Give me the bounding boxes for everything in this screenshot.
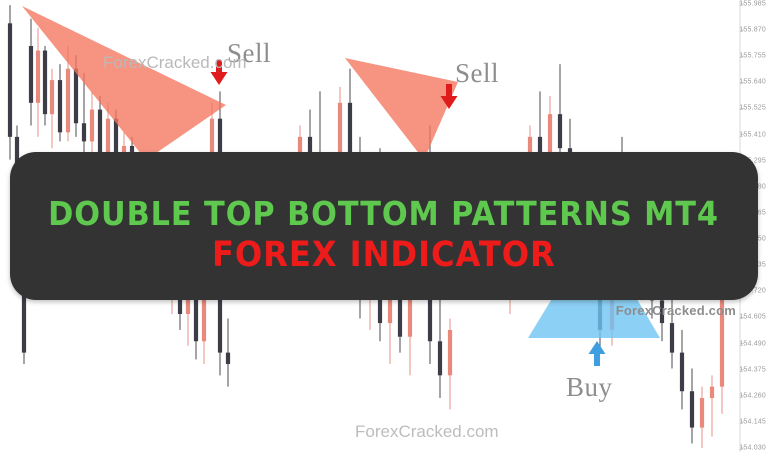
price-axis-label: 154.030 bbox=[739, 445, 766, 452]
candle bbox=[558, 114, 562, 148]
candle bbox=[66, 69, 70, 133]
candle bbox=[58, 80, 62, 132]
price-axis-label: 155.870 bbox=[739, 27, 766, 34]
banner-headline-primary: Double Top Bottom Patterns MT4 bbox=[49, 197, 720, 230]
price-axis-label: 155.755 bbox=[739, 53, 766, 60]
title-banner: Double Top Bottom Patterns MT4 Forex Ind… bbox=[10, 152, 758, 300]
price-axis-label: 155.640 bbox=[739, 79, 766, 86]
candle bbox=[50, 80, 54, 114]
price-axis-label: 155.525 bbox=[739, 105, 766, 112]
buy-label: Buy bbox=[566, 372, 613, 403]
banner-headline-secondary: Forex Indicator bbox=[212, 238, 556, 273]
price-axis-label: 154.375 bbox=[739, 366, 766, 373]
screenshot-root: 155.985155.870155.755155.640155.525155.4… bbox=[0, 0, 768, 452]
candle bbox=[448, 330, 452, 375]
price-axis-label: 154.605 bbox=[739, 314, 766, 321]
price-axis-label: 155.985 bbox=[739, 1, 766, 8]
candle bbox=[226, 353, 230, 364]
candle bbox=[690, 391, 694, 427]
candle bbox=[670, 323, 674, 353]
watermark-top-left: ForexCracked.com bbox=[103, 53, 247, 73]
price-axis-label: 154.490 bbox=[739, 340, 766, 347]
watermark-banner: ForexCracked.com bbox=[616, 303, 736, 318]
price-axis-label: 154.260 bbox=[739, 392, 766, 399]
candle bbox=[90, 110, 94, 142]
down-arrow-icon-2 bbox=[438, 82, 460, 112]
candle bbox=[36, 51, 40, 103]
up-arrow-icon bbox=[586, 338, 608, 368]
price-axis-label: 154.145 bbox=[739, 418, 766, 425]
candle bbox=[438, 341, 442, 375]
candle bbox=[29, 46, 33, 103]
candle bbox=[8, 23, 12, 137]
candle bbox=[74, 69, 78, 124]
candle bbox=[43, 51, 47, 115]
watermark-bottom-center: ForexCracked.com bbox=[355, 422, 499, 442]
candle bbox=[700, 398, 704, 428]
candle bbox=[680, 353, 684, 392]
candle bbox=[82, 123, 86, 141]
candle bbox=[710, 387, 714, 398]
sell-label-2: Sell bbox=[455, 58, 499, 89]
price-axis-label: 155.410 bbox=[739, 131, 766, 138]
